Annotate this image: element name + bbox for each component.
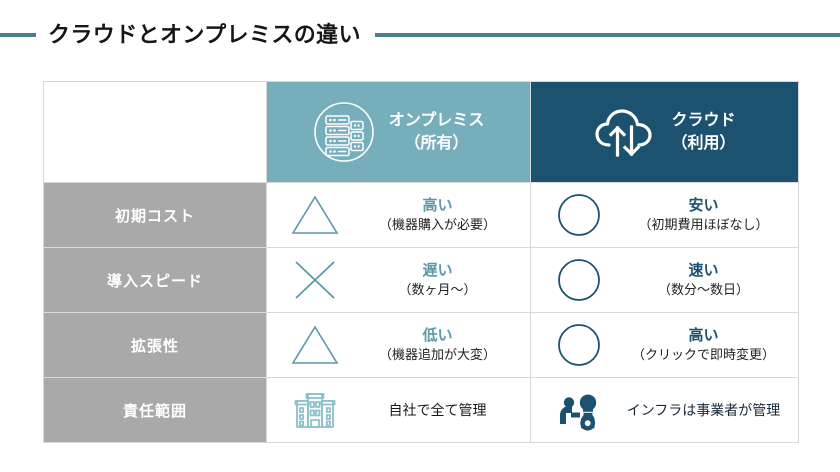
- table-header-row: オンプレミス （所有）: [44, 82, 799, 183]
- row-label-deploy-speed: 導入スピード: [44, 248, 267, 313]
- verdict: 高い: [355, 196, 520, 216]
- header-onpremise-sub: （所有）: [389, 132, 485, 155]
- page-title-band: クラウドとオンプレミスの違い: [0, 18, 840, 52]
- detail: （クリックで即時変更）: [619, 346, 788, 364]
- header-cloud-sub: （利用）: [671, 132, 735, 155]
- header-cloud-name: クラウド: [671, 112, 735, 129]
- detail: （機器追加が大変）: [355, 346, 520, 364]
- header-cloud-label: クラウド （利用）: [671, 109, 735, 155]
- header-blank-cell: [44, 82, 267, 183]
- cell-onprem-initial-cost: 高い （機器購入が必要）: [267, 183, 531, 248]
- detail: （機器購入が必要）: [355, 216, 520, 234]
- cell-onprem-initial-cost-text: 高い （機器購入が必要）: [355, 196, 520, 234]
- cell-cloud-responsibility: インフラは事業者が管理: [531, 378, 799, 443]
- cell-cloud-deploy-speed-text: 速い （数分～数日）: [619, 261, 788, 299]
- verdict: 低い: [355, 326, 520, 346]
- cell-onprem-deploy-speed-text: 遅い （数ヶ月～）: [355, 261, 520, 299]
- header-onpremise-name: オンプレミス: [389, 112, 485, 129]
- header-onpremise: オンプレミス （所有）: [267, 82, 531, 183]
- table-row: 初期コスト 高い （機器購入が必要）: [44, 183, 799, 248]
- table-row: 導入スピード 遅い （数ヶ月～）: [44, 248, 799, 313]
- row-label-initial-cost: 初期コスト: [44, 183, 267, 248]
- row-label-scalability: 拡張性: [44, 313, 267, 378]
- detail: （初期費用ほぼなし）: [619, 216, 788, 234]
- triangle-mark-icon: [283, 323, 347, 367]
- header-cloud: クラウド （利用）: [531, 82, 799, 183]
- building-icon: [283, 388, 347, 432]
- verdict: 安い: [619, 196, 788, 216]
- triangle-mark-icon: [283, 193, 347, 237]
- person-gear-idea-icon: [547, 388, 611, 432]
- cell-cloud-initial-cost: 安い （初期費用ほぼなし）: [531, 183, 799, 248]
- detail: （数ヶ月～）: [355, 281, 520, 299]
- cross-mark-icon: [283, 258, 347, 302]
- circle-mark-icon: [547, 192, 611, 238]
- comparison-table: オンプレミス （所有）: [43, 81, 799, 443]
- cell-onprem-scalability-text: 低い （機器追加が大変）: [355, 326, 520, 364]
- server-rack-icon: [313, 101, 375, 163]
- cell-onprem-responsibility-text: 自社で全て管理: [355, 400, 520, 420]
- cell-onprem-scalability: 低い （機器追加が大変）: [267, 313, 531, 378]
- cell-cloud-responsibility-text: インフラは事業者が管理: [619, 400, 788, 420]
- page-title: クラウドとオンプレミスの違い: [36, 24, 375, 46]
- cell-cloud-initial-cost-text: 安い （初期費用ほぼなし）: [619, 196, 788, 234]
- table-row: 責任範囲: [44, 378, 799, 443]
- cell-onprem-deploy-speed: 遅い （数ヶ月～）: [267, 248, 531, 313]
- verdict: 速い: [619, 261, 788, 281]
- row-label-responsibility: 責任範囲: [44, 378, 267, 443]
- cell-onprem-responsibility: 自社で全て管理: [267, 378, 531, 443]
- header-onpremise-label: オンプレミス （所有）: [389, 109, 485, 155]
- cloud-sync-icon: [593, 103, 657, 161]
- circle-mark-icon: [547, 257, 611, 303]
- table-row: 拡張性 低い （機器追加が大変）: [44, 313, 799, 378]
- verdict: 高い: [619, 326, 788, 346]
- title-rule-left: [0, 33, 36, 37]
- cell-cloud-scalability-text: 高い （クリックで即時変更）: [619, 326, 788, 364]
- cell-cloud-deploy-speed: 速い （数分～数日）: [531, 248, 799, 313]
- verdict: 遅い: [355, 261, 520, 281]
- title-rule-right: [375, 33, 840, 37]
- circle-mark-icon: [547, 322, 611, 368]
- detail: （数分～数日）: [619, 281, 788, 299]
- cell-cloud-scalability: 高い （クリックで即時変更）: [531, 313, 799, 378]
